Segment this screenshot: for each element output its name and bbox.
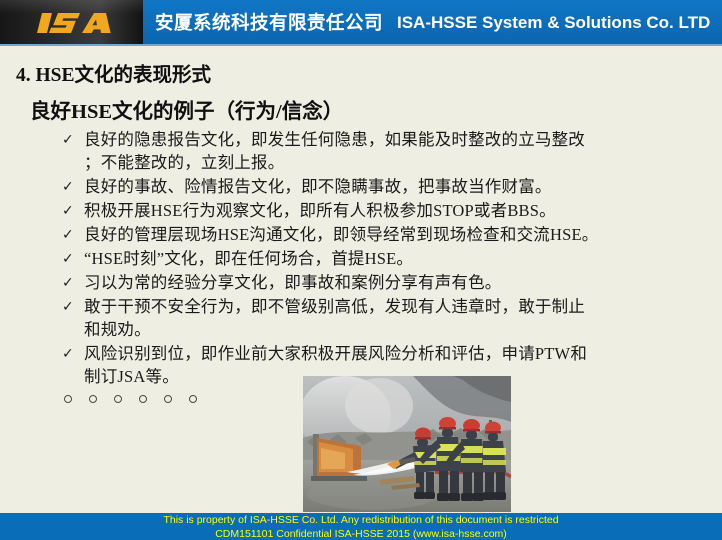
bullet-line: 敢于干预不安全行为，即不管级别高低，发现有人违章时，敢于制止 xyxy=(84,295,712,318)
bullet-item: ✓敢于干预不安全行为，即不管级别高低，发现有人违章时，敢于制止和规劝。 xyxy=(62,295,712,341)
bullet-item: ✓“HSE时刻”文化，即在任何场合，首提HSE。 xyxy=(62,247,712,270)
bullet-text: 习以为常的经验分享文化，即事故和案例分享有声有色。 xyxy=(84,271,712,294)
logo-panel xyxy=(0,0,143,46)
footer-copyright-line: This is property of ISA-HSSE Co. Ltd. An… xyxy=(0,513,722,528)
checkmark-icon: ✓ xyxy=(62,199,78,222)
circle-marker-icon xyxy=(189,395,197,403)
bullet-line: 良好的管理层现场HSE沟通文化，即领导经常到现场检查和交流HSE。 xyxy=(84,223,712,246)
bullet-line: 良好的事故、险情报告文化，即不隐瞒事故，把事故当作财富。 xyxy=(84,175,712,198)
bullet-text: 良好的隐患报告文化，即发生任何隐患，如果能及时整改的立马整改；不能整改的，立刻上… xyxy=(84,128,712,174)
circle-marker-icon xyxy=(89,395,97,403)
page-subtitle: 良好HSE文化的例子（行为/信念） xyxy=(30,94,343,124)
checkmark-icon: ✓ xyxy=(62,223,78,246)
circle-marker-icon xyxy=(114,395,122,403)
bullet-line: 风险识别到位，即作业前大家积极开展风险分析和评估，申请PTW和 xyxy=(84,342,712,365)
header-title-chinese: 安厦系统科技有限责任公司 xyxy=(155,10,383,36)
bullet-line: 和规劝。 xyxy=(84,318,712,341)
bullet-line: “HSE时刻”文化，即在任何场合，首提HSE。 xyxy=(84,247,712,270)
circle-marker-icon xyxy=(64,395,72,403)
bullet-line: 习以为常的经验分享文化，即事故和案例分享有声有色。 xyxy=(84,271,712,294)
bullet-line: 良好的隐患报告文化，即发生任何隐患，如果能及时整改的立马整改 xyxy=(84,128,712,151)
circle-marker-icon xyxy=(139,395,147,403)
header-title-english: ISA-HSSE System & Solutions Co. LTD xyxy=(397,11,710,35)
checkmark-icon: ✓ xyxy=(62,295,78,318)
checkmark-icon: ✓ xyxy=(62,128,78,151)
circle-marker-row xyxy=(64,395,197,403)
header-divider xyxy=(0,44,722,46)
bullet-list: ✓良好的隐患报告文化，即发生任何隐患，如果能及时整改的立马整改；不能整改的，立刻… xyxy=(62,128,712,389)
circle-marker-icon xyxy=(164,395,172,403)
checkmark-icon: ✓ xyxy=(62,175,78,198)
page-title: 4. HSE文化的表现形式 xyxy=(16,58,211,87)
bullet-text: 积极开展HSE行为观察文化，即所有人积极参加STOP或者BBS。 xyxy=(84,199,712,222)
slide-canvas: 安厦系统科技有限责任公司 ISA-HSSE System & Solutions… xyxy=(0,0,722,540)
bullet-line: ；不能整改的，立刻上报。 xyxy=(84,151,712,174)
bullet-line: 积极开展HSE行为观察文化，即所有人积极参加STOP或者BBS。 xyxy=(84,199,712,222)
bullet-item: ✓积极开展HSE行为观察文化，即所有人积极参加STOP或者BBS。 xyxy=(62,199,712,222)
photo-illustration xyxy=(303,376,511,512)
footer-document-line: CDM151101 Confidential ISA-HSSE 2015 (ww… xyxy=(0,528,722,540)
firefighters-training-photo xyxy=(303,376,511,512)
bullet-item: ✓良好的隐患报告文化，即发生任何隐患，如果能及时整改的立马整改；不能整改的，立刻… xyxy=(62,128,712,174)
isa-logo-icon xyxy=(36,9,116,37)
checkmark-icon: ✓ xyxy=(62,271,78,294)
checkmark-icon: ✓ xyxy=(62,247,78,270)
checkmark-icon: ✓ xyxy=(62,342,78,365)
footer-bar: This is property of ISA-HSSE Co. Ltd. An… xyxy=(0,513,722,540)
bullet-item: ✓良好的管理层现场HSE沟通文化，即领导经常到现场检查和交流HSE。 xyxy=(62,223,712,246)
bullet-text: 敢于干预不安全行为，即不管级别高低，发现有人违章时，敢于制止和规劝。 xyxy=(84,295,712,341)
bullet-text: 良好的事故、险情报告文化，即不隐瞒事故，把事故当作财富。 xyxy=(84,175,712,198)
bullet-text: “HSE时刻”文化，即在任何场合，首提HSE。 xyxy=(84,247,712,270)
bullet-text: 良好的管理层现场HSE沟通文化，即领导经常到现场检查和交流HSE。 xyxy=(84,223,712,246)
bullet-item: ✓良好的事故、险情报告文化，即不隐瞒事故，把事故当作财富。 xyxy=(62,175,712,198)
bullet-item: ✓习以为常的经验分享文化，即事故和案例分享有声有色。 xyxy=(62,271,712,294)
header-bar: 安厦系统科技有限责任公司 ISA-HSSE System & Solutions… xyxy=(0,0,722,46)
